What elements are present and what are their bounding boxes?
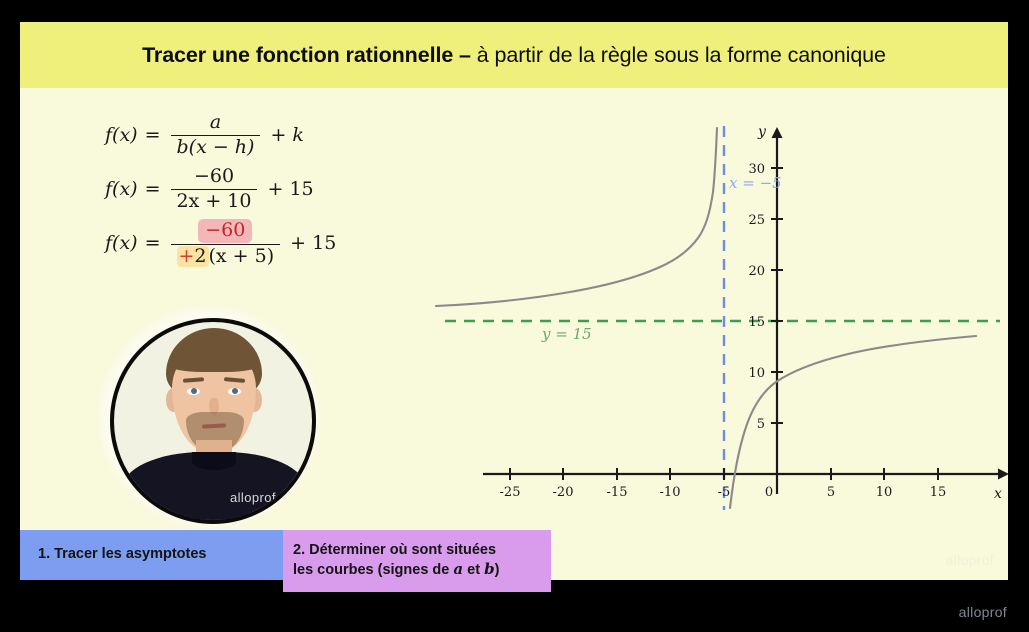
page-title-bold: Tracer une fonction rationnelle – (142, 43, 477, 67)
equation-tail: + 15 (267, 178, 313, 200)
step-chip-2-label: 2. Déterminer où sont situées les courbe… (293, 542, 499, 579)
step-chip-2-line1: 2. Déterminer où sont situées (293, 542, 499, 560)
fraction-denominator: b(x − h) (171, 135, 261, 158)
presenter-avatar: alloprof (100, 308, 318, 526)
x-tick-label: -10 (660, 485, 681, 500)
equation-tail: + 15 (290, 232, 336, 254)
step-chip-group: 1. Tracer les asymptotes 2. Déterminer o… (20, 530, 551, 592)
x-tick-label: -20 (553, 485, 574, 500)
avatar-photo: alloprof (114, 322, 312, 520)
fraction: −60 +2(x + 5) (171, 219, 281, 267)
step-chip-2-line2: les courbes (signes de a et b) (293, 560, 499, 580)
denominator-sign: + (179, 245, 195, 267)
curve-left-branch (436, 128, 717, 306)
x-tick-label: 15 (930, 485, 947, 500)
rational-function-graph: -25 -20 -15 -10 -5 0 5 10 15 (420, 112, 1008, 512)
x-tick-label: -5 (718, 485, 731, 500)
x-axis-arrow (998, 469, 1008, 480)
denominator-rest: (x + 5) (209, 245, 275, 267)
step-chip-2-conjunction: et (463, 562, 484, 578)
slide-header: Tracer une fonction rationnelle – à part… (20, 22, 1008, 88)
equation-general-form: f(x) = a b(x − h) + k (105, 108, 385, 162)
equals-sign: = (145, 124, 161, 146)
y-axis-label: y (757, 124, 767, 140)
x-tick-label: 0 (765, 485, 773, 500)
step-chip-2-line2-text: les courbes (signes de (293, 562, 453, 578)
avatar-shirt-logo: alloprof (230, 490, 276, 505)
denominator-highlight: +2 (177, 246, 209, 267)
x-tick-label: -15 (607, 485, 628, 500)
equation-lhs: f(x) (105, 124, 138, 146)
equals-sign: = (145, 178, 161, 200)
fraction-denominator: +2(x + 5) (171, 244, 281, 267)
step-chip-2-close-paren: ) (495, 562, 500, 578)
x-tick-label: -25 (500, 485, 521, 500)
step-chip-2-var-a: a (453, 560, 463, 578)
step-chip-1[interactable]: 1. Tracer les asymptotes (20, 530, 283, 580)
watermark-dark: alloprof (959, 604, 1007, 620)
fraction-numerator: −60 (171, 219, 281, 243)
y-axis-tick-labels: 5 10 15 20 25 30 (748, 162, 765, 432)
numerator-highlight: −60 (198, 219, 252, 242)
step-chip-2-var-b: b (484, 560, 495, 578)
fraction: −60 2x + 10 (171, 166, 258, 212)
x-axis-tick-labels: -25 -20 -15 -10 -5 0 5 10 15 (500, 485, 947, 500)
equation-lhs: f(x) (105, 232, 138, 254)
y-tick-label: 20 (748, 264, 765, 279)
equals-sign: = (145, 232, 161, 254)
slide-canvas: Tracer une fonction rationnelle – à part… (20, 22, 1008, 580)
equation-given-rule: f(x) = −60 2x + 10 + 15 (105, 162, 385, 216)
graph-svg: -25 -20 -15 -10 -5 0 5 10 15 (420, 112, 1008, 512)
fraction-numerator: a (171, 112, 261, 134)
y-axis-arrow (772, 127, 783, 138)
avatar-pupil-right (232, 388, 238, 394)
page-title-light: à partir de la règle sous la forme canon… (477, 43, 886, 67)
equation-list: f(x) = a b(x − h) + k f(x) = −60 2x + 10… (105, 108, 385, 270)
x-tick-label: 5 (827, 485, 835, 500)
slide-root: Tracer une fonction rationnelle – à part… (0, 0, 1029, 632)
step-chip-1-label: 1. Tracer les asymptotes (38, 546, 206, 564)
fraction: a b(x − h) (171, 112, 261, 158)
x-tick-label: 10 (876, 485, 893, 500)
avatar-circle: alloprof (110, 318, 316, 524)
vertical-asymptote-label: x = −5 (729, 174, 782, 192)
fraction-denominator: 2x + 10 (171, 189, 258, 212)
step-chip-2[interactable]: 2. Déterminer où sont situées les courbe… (283, 530, 551, 592)
avatar-collar (192, 452, 236, 470)
y-tick-label: 25 (748, 213, 765, 228)
curve-right-branch (730, 336, 976, 508)
page-title: Tracer une fonction rationnelle – à part… (142, 43, 886, 68)
fraction-numerator: −60 (171, 166, 258, 188)
equation-lhs: f(x) (105, 178, 138, 200)
x-axis-label: x (994, 486, 1002, 502)
watermark-light: alloprof (946, 552, 994, 568)
y-tick-label: 15 (748, 315, 765, 330)
y-tick-label: 10 (748, 366, 765, 381)
y-tick-label: 5 (757, 417, 765, 432)
denominator-coefficient: 2 (194, 245, 206, 267)
equation-tail: + k (270, 124, 303, 146)
equation-canonical-form: f(x) = −60 +2(x + 5) + 15 (105, 216, 385, 270)
avatar-pupil-left (191, 388, 197, 394)
horizontal-asymptote-label: y = 15 (541, 325, 592, 343)
